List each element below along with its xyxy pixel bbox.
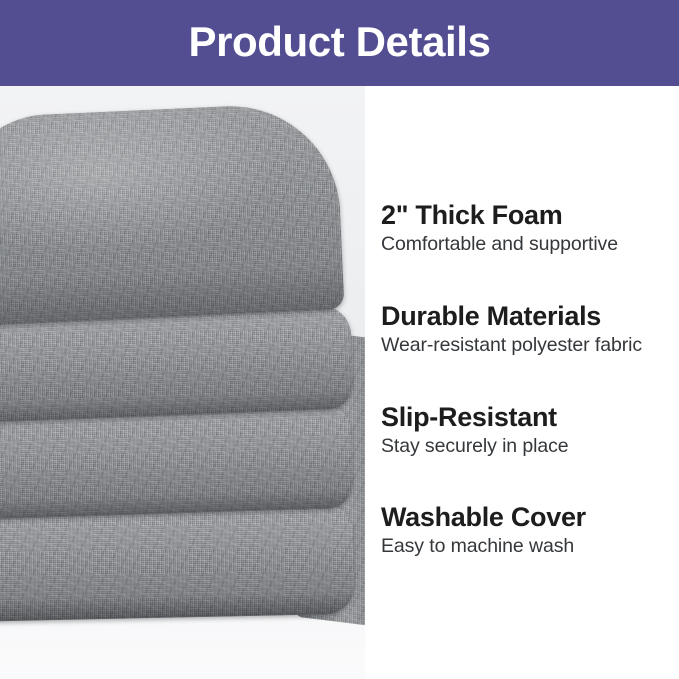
feature-list: 2" Thick Foam Comfortable and supportive… <box>381 86 679 679</box>
page-title: Product Details <box>188 21 490 65</box>
feature-item-thick-foam: 2" Thick Foam Comfortable and supportive <box>381 200 679 257</box>
feature-title: Slip-Resistant <box>381 402 679 432</box>
feature-panel: 2" Thick Foam Comfortable and supportive… <box>365 86 679 679</box>
product-photo <box>0 86 365 679</box>
feature-item-washable-cover: Washable Cover Easy to machine wash <box>381 502 679 559</box>
feature-title: 2" Thick Foam <box>381 200 679 230</box>
cushion-fabric <box>0 502 355 622</box>
cushion-bottom <box>0 502 355 622</box>
feature-item-durable-materials: Durable Materials Wear-resistant polyest… <box>381 301 679 358</box>
feature-description: Easy to machine wash <box>381 535 679 558</box>
feature-description: Wear-resistant polyester fabric <box>381 334 679 357</box>
cushion-fabric <box>0 101 345 326</box>
header-band: Product Details <box>0 0 679 86</box>
feature-description: Comfortable and supportive <box>381 233 679 256</box>
feature-item-slip-resistant: Slip-Resistant Stay securely in place <box>381 402 679 459</box>
feature-title: Durable Materials <box>381 301 679 331</box>
product-details-infographic: Product Details 2" <box>0 0 679 679</box>
feature-title: Washable Cover <box>381 502 679 532</box>
feature-description: Stay securely in place <box>381 435 679 458</box>
cushion-top <box>0 101 345 326</box>
